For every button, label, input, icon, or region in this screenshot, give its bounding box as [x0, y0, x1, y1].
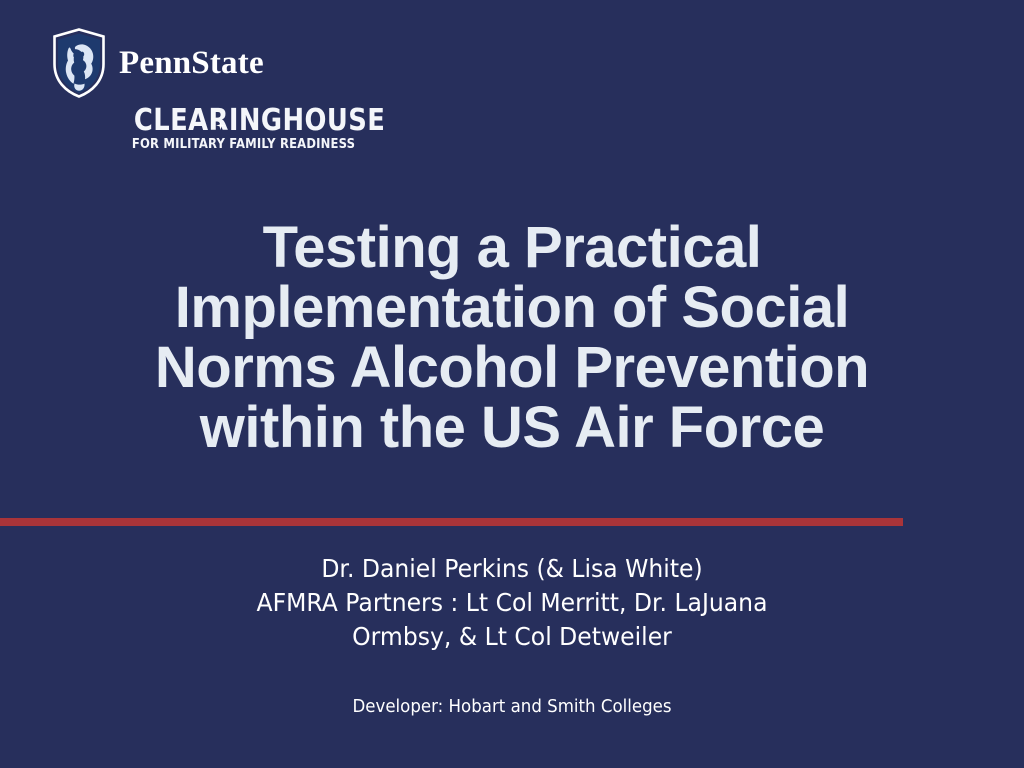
author-block: Dr. Daniel Perkins (& Lisa White) AFMRA …: [162, 552, 862, 654]
author-line-1: Dr. Daniel Perkins (& Lisa White): [183, 552, 841, 586]
clearinghouse-title: CLEARINGHOUSE: [134, 106, 304, 137]
accent-divider-rule: [0, 518, 903, 526]
pennstate-shield-nittany-lion-icon: [52, 28, 106, 98]
clearinghouse-logo: CLEARINGHOUSE FOR MILITARY FAMILY READIN…: [120, 106, 318, 152]
title-line-2: Implementation of Social: [132, 278, 892, 338]
pennstate-wordmark: PennState: [119, 47, 264, 80]
developer-credit: Developer: Hobart and Smith Colleges: [180, 696, 845, 718]
pennstate-logo: PennState: [52, 28, 264, 98]
slide-title: Testing a Practical Implementation of So…: [132, 218, 892, 458]
author-line-3: Ormbsy, & Lt Col Detweiler: [183, 620, 841, 654]
title-line-1: Testing a Practical: [132, 218, 892, 278]
title-line-3: Norms Alcohol Prevention: [132, 338, 892, 398]
clearinghouse-tagline: FOR MILITARY FAMILY READINESS: [132, 138, 306, 153]
title-line-4: within the US Air Force: [132, 398, 892, 458]
presentation-slide: PennState CLEARINGHOUSE FOR MILITARY FAM…: [0, 0, 1024, 768]
branding-logo-block: PennState CLEARINGHOUSE FOR MILITARY FAM…: [52, 28, 392, 163]
author-line-2: AFMRA Partners : Lt Col Merritt, Dr. LaJ…: [183, 586, 841, 620]
footer-block: Developer: Hobart and Smith Colleges: [162, 696, 862, 718]
